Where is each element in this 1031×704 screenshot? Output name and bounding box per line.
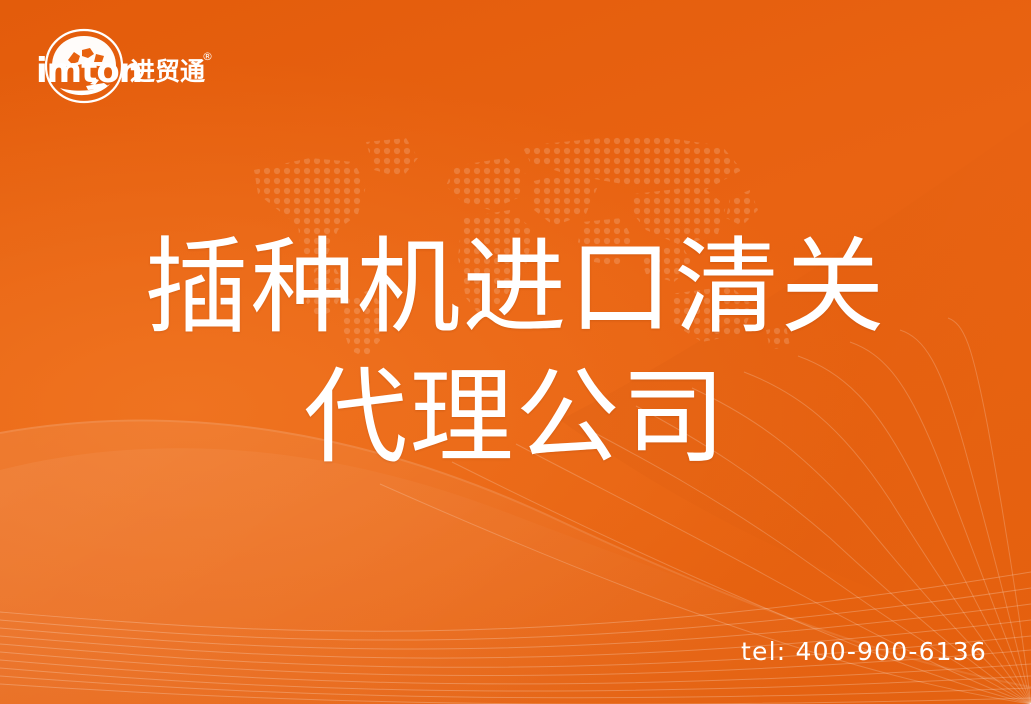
brand-logo[interactable]: imton 进贸通 ® bbox=[34, 26, 214, 106]
registered-mark-icon: ® bbox=[202, 50, 213, 63]
headline-line-2: 代理公司 bbox=[0, 352, 1031, 482]
headline-line-1: 插种机进口清关 bbox=[0, 222, 1031, 352]
logo-wordmark: imton bbox=[36, 51, 142, 91]
page-title: 插种机进口清关 代理公司 bbox=[0, 222, 1031, 482]
contact-phone[interactable]: tel: 400-900-6136 bbox=[741, 637, 987, 666]
logo-chinese-name: 进贸通 bbox=[130, 57, 205, 86]
promo-banner: imton 进贸通 ® 插种机进口清关 代理公司 tel: 400-900-61… bbox=[0, 0, 1031, 704]
